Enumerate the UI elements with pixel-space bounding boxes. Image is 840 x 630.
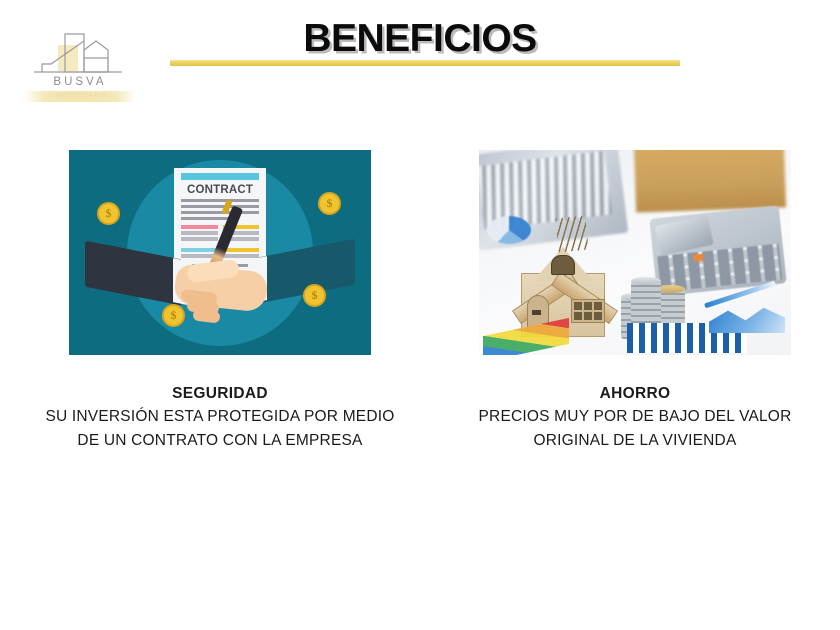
benefit-description: SU INVERSIÓN ESTA PROTEGIDA POR MEDIO DE…	[40, 405, 400, 452]
chart-documents	[479, 319, 791, 355]
brand-name: BUSVA	[24, 76, 136, 88]
coin-icon: $	[303, 284, 326, 307]
rainbow-chart-graphic	[483, 318, 569, 355]
document-title: CONTRACT	[174, 184, 266, 196]
handshake-contract-illustration: CONTRACT $	[69, 150, 371, 355]
benefit-description: PRECIOS MUY POR DE BAJO DEL VALOR ORIGIN…	[455, 405, 815, 452]
page-title: BENEFICIOS	[0, 17, 840, 61]
coin-icon: $	[97, 202, 120, 225]
calculator-accent-key	[693, 254, 704, 262]
slide-header: BUSVA INMOBILIARIA BENEFICIOS	[0, 0, 840, 120]
document-header-band	[181, 173, 259, 180]
benefit-title: SEGURIDAD	[40, 383, 400, 405]
roof-ridge-lines	[555, 216, 588, 253]
attic-window	[551, 255, 575, 275]
wood-panel	[634, 150, 786, 213]
benefit-caption-seguridad: SEGURIDAD SU INVERSIÓN ESTA PROTEGIDA PO…	[40, 383, 400, 453]
brand-tagline: INMOBILIARIA	[24, 91, 136, 102]
benefit-card-ahorro: AHORRO PRECIOS MUY POR DE BAJO DEL VALOR…	[455, 150, 815, 453]
benefit-title: AHORRO	[455, 383, 815, 405]
calculator-screen	[655, 215, 714, 256]
coin-icon: $	[318, 192, 341, 215]
house-model-coins-photo	[479, 150, 791, 355]
coin-icon: $	[162, 304, 185, 327]
benefit-caption-ahorro: AHORRO PRECIOS MUY POR DE BAJO DEL VALOR…	[455, 383, 815, 453]
document-text-lines	[181, 199, 259, 220]
title-underline-accent	[170, 60, 680, 66]
benefit-card-seguridad: CONTRACT $	[40, 150, 400, 453]
